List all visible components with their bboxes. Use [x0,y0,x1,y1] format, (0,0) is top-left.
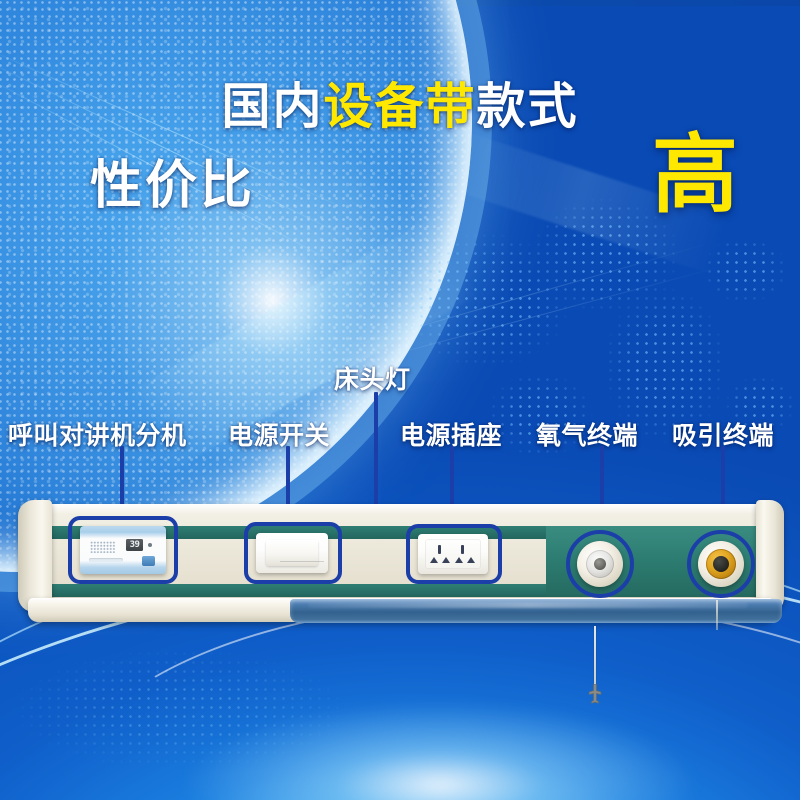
headline-part-2: 设备带 [323,80,476,134]
callout-label-oxygen-outlet: 氧气终端 [536,416,638,452]
headline-block: 国内设备带款式 性价比 高 [0,80,800,135]
highlight-box-oxygen [566,530,634,598]
highlight-box-suction [687,530,755,598]
bed-lamp-sheen [308,602,748,608]
panel-end-cap-left [18,500,52,612]
horizon-glow [180,700,700,800]
headline-emphasis: 高 [652,132,738,218]
pull-cord[interactable] [594,626,596,690]
highlight-box-intercom [68,516,178,584]
poster-canvas: 国内设备带款式 性价比 高 呼叫对讲机分机 电源开关 床头灯 电源插座 氧气终端… [0,0,800,800]
highlight-box-power-socket [406,524,502,584]
callout-label-intercom: 呼叫对讲机分机 [8,416,187,452]
pull-cord-secondary[interactable] [716,600,718,630]
headline-subtitle: 性价比 [90,157,255,215]
headline-part-3: 款式 [477,80,579,134]
callout-label-bed-lamp: 床头灯 [334,360,411,396]
highlight-box-power-switch [244,522,342,584]
callout-label-power-switch: 电源开关 [228,416,330,452]
headline-part-1: 国内 [221,80,323,134]
panel-end-cap-right [756,500,784,612]
pull-cord-cross-handle[interactable] [583,682,607,706]
